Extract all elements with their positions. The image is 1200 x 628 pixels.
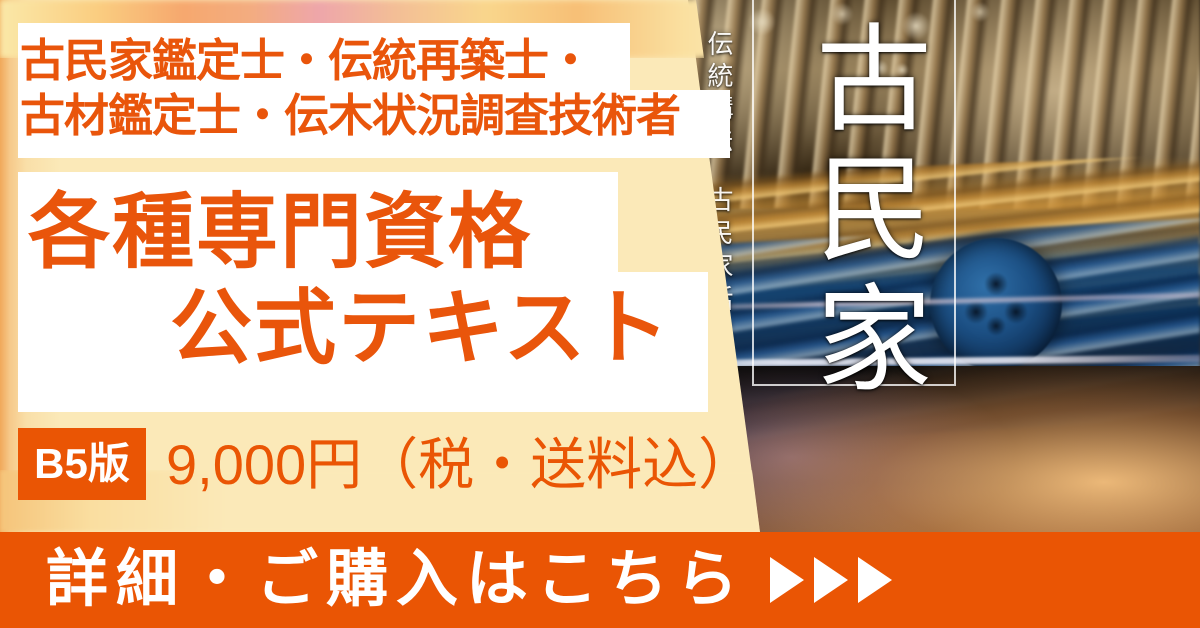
qualifications-line-1: 古民家鑑定士・伝統再築士・ [20, 38, 592, 83]
triangle-right-icon [770, 557, 804, 603]
headline-line-1: 各種専門資格 [28, 192, 532, 274]
cta-arrows [770, 557, 892, 603]
qualifications-line-2: 古材鑑定士・伝木状況調査技術者 [20, 93, 680, 138]
headline-line-2: 公式テキスト [170, 288, 672, 370]
format-badge-label: B5版 [34, 443, 130, 485]
promo-banner: 伝統構法 古民家活用のための調査と再生の 古民家 古民家鑑定士・伝統再築士・ 古… [0, 0, 1200, 628]
price-text: 9,000円（税・送料込） [166, 432, 754, 498]
triangle-right-icon [814, 557, 848, 603]
cta-bar[interactable]: 詳細・ご購入はこちら [0, 532, 1200, 628]
format-badge: B5版 [18, 428, 146, 500]
cta-label: 詳細・ご購入はこちら [46, 549, 746, 611]
triangle-right-icon [858, 557, 892, 603]
cover-title: 古民家 [778, 18, 946, 408]
